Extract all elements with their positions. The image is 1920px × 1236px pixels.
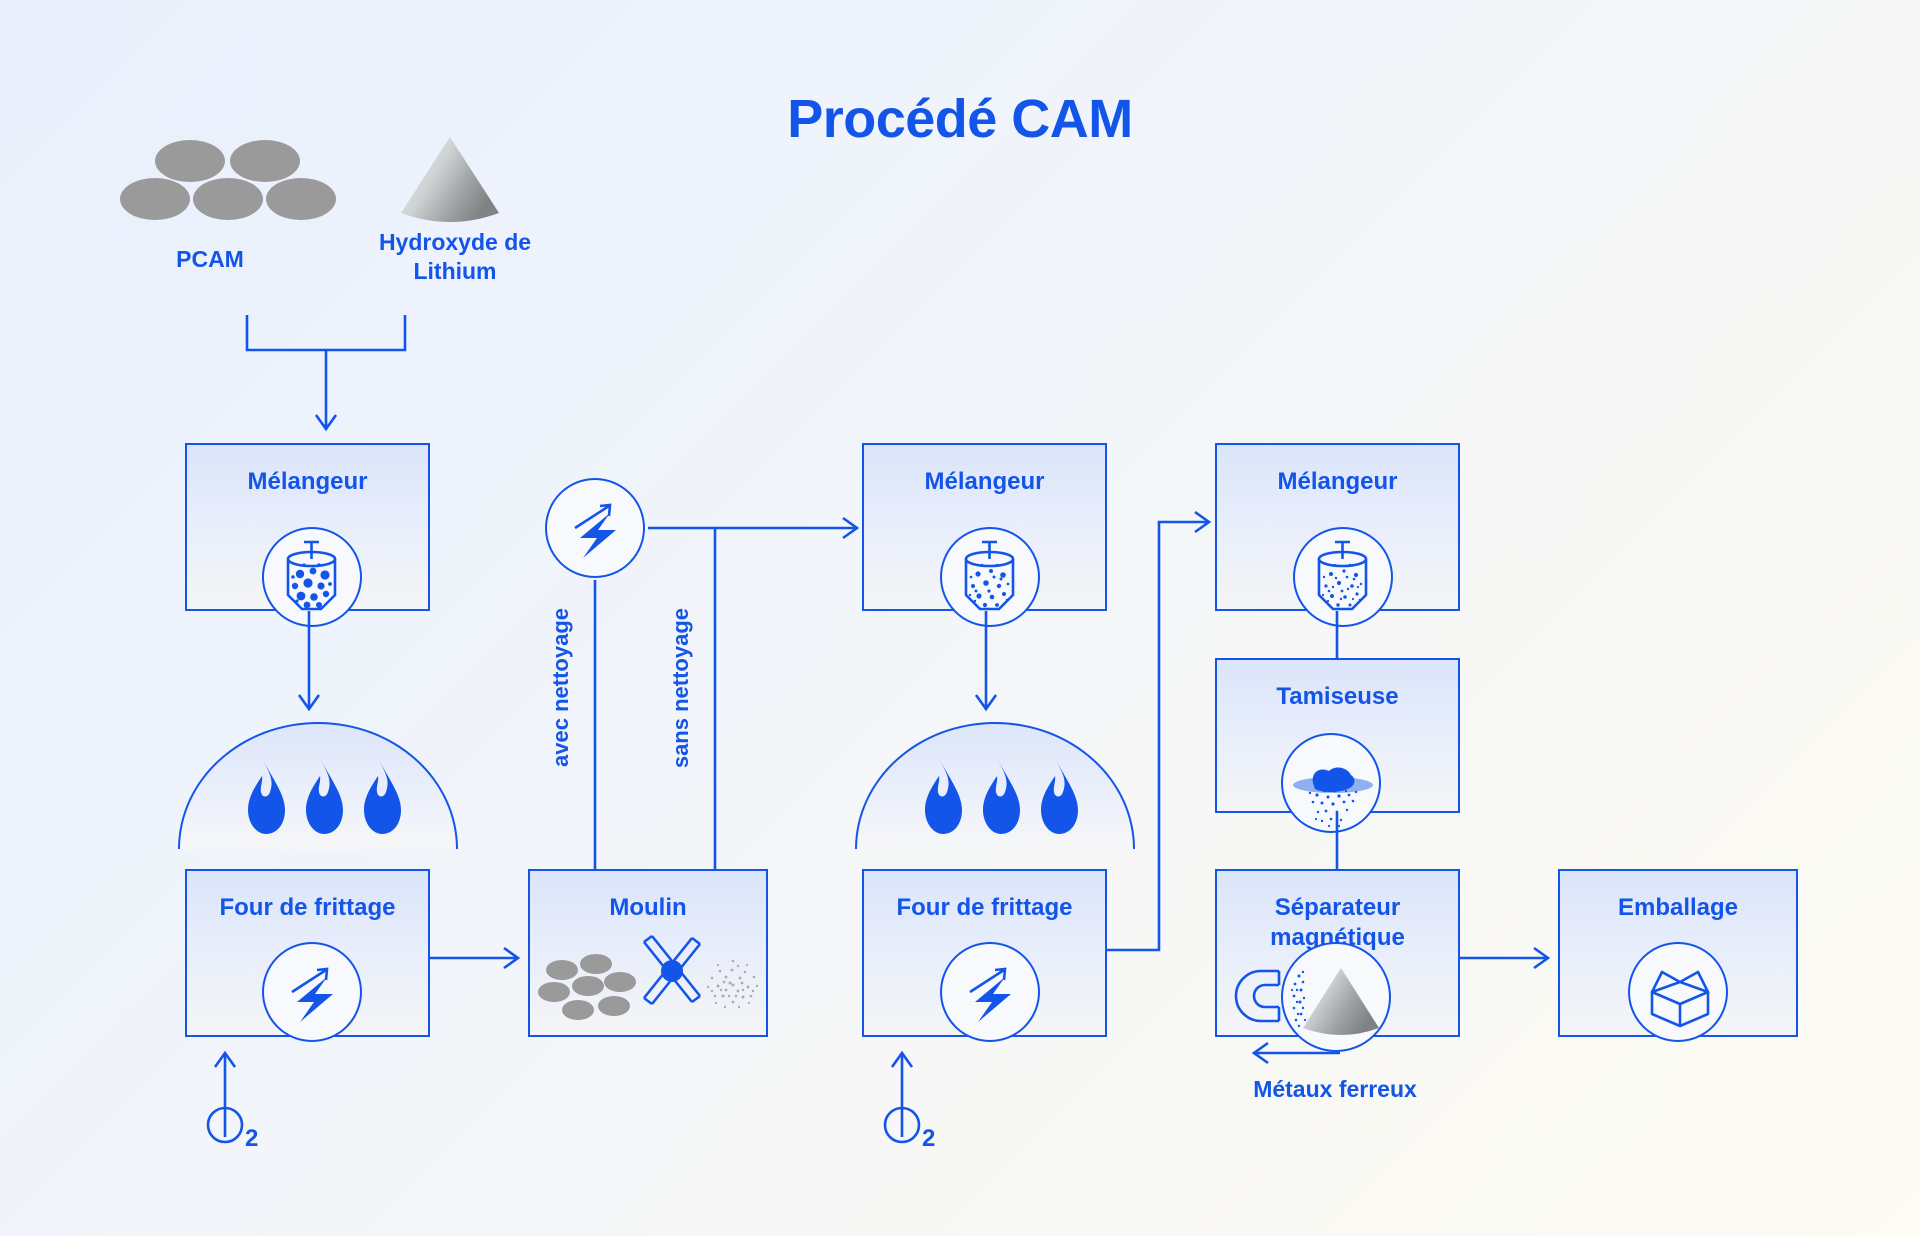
energy-bolt-icon [262, 942, 362, 1042]
node-title-packaging: Emballage [1560, 893, 1796, 923]
node-title-mill: Moulin [530, 893, 766, 923]
powder-cone-icon [395, 135, 505, 225]
connector-energy-branches [590, 520, 890, 870]
node-title-mixer2: Mélangeur [864, 467, 1105, 497]
connector-ferrous-metals [1240, 1040, 1340, 1066]
energy-bolt-icon [940, 942, 1040, 1042]
connector-furnace1-to-mill [430, 946, 530, 970]
connector-mixer1-to-furnace1 [297, 611, 321, 723]
magnet-cone-icon [1281, 942, 1391, 1052]
input-label-lithium-hydroxide-line1: Hydroxyde de [330, 228, 580, 257]
connector-mixer3-to-sieve [1330, 611, 1344, 659]
connector-furnace2-to-mixer3 [1107, 510, 1217, 960]
node-title-furnace2: Four de frittage [864, 893, 1105, 923]
utility-oxygen-subscript-furnace1: 2 [245, 1125, 258, 1153]
byproduct-label-ferrous-metals: Métaux ferreux [1175, 1075, 1495, 1104]
node-title-magsep-line1: Séparateur [1217, 893, 1458, 923]
pellet-cluster-icon [120, 140, 300, 220]
connector-mixer2-to-furnace2 [974, 611, 998, 723]
flame-dome-icon [855, 722, 1135, 849]
input-label-lithium-hydroxide: Hydroxyde de Lithium [330, 228, 580, 286]
mill-blade-icon [540, 930, 758, 1030]
flame-dome-icon [178, 722, 458, 849]
branch-label-without-cleaning: sans nettoyage [668, 608, 694, 768]
utility-oxygen-furnace1: 2 [205, 1037, 315, 1142]
node-title-mixer3: Mélangeur [1217, 467, 1458, 497]
utility-oxygen-subscript-furnace2: 2 [922, 1125, 935, 1153]
branch-label-with-cleaning: avec nettoyage [548, 608, 574, 767]
node-title-mixer1: Mélangeur [187, 467, 428, 497]
connector-magsep-to-packaging [1460, 946, 1560, 970]
utility-oxygen-furnace2: 2 [882, 1037, 992, 1142]
open-box-icon [1628, 942, 1728, 1042]
node-title-furnace1: Four de frittage [187, 893, 428, 923]
node-title-sieve: Tamiseuse [1217, 682, 1458, 712]
connector-inputs-to-mixer1 [230, 315, 430, 445]
input-label-pcam: PCAM [110, 245, 310, 274]
diagram-canvas: Procédé CAM PCAM Hydroxyde de Lithium [0, 0, 1920, 1236]
input-label-lithium-hydroxide-line2: Lithium [330, 257, 580, 286]
connector-sieve-to-magsep [1330, 813, 1344, 869]
